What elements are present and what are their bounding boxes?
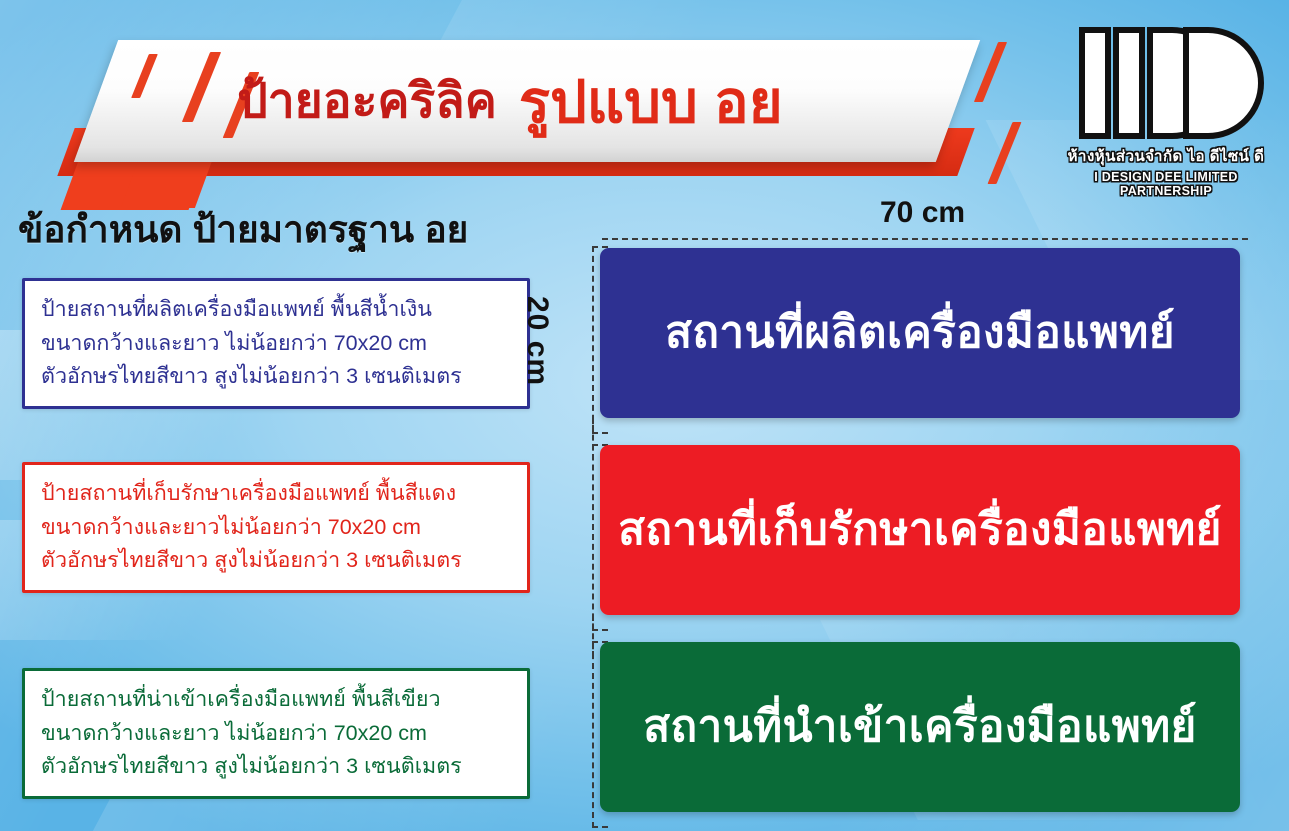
logo-thai-name: ห้างหุ้นส่วนจำกัด ไอ ดีไซน์ ดี — [1061, 144, 1271, 168]
banner-title-secondary: รูปแบบ อย — [519, 55, 783, 148]
idd-letters-icon — [1066, 24, 1266, 142]
dimension-label-width: 70 cm — [880, 196, 965, 230]
spec-line: ป้ายสถานที่เก็บรักษาเครื่องมือแพทย์ พื้น… — [41, 477, 513, 511]
dimension-guide-left — [592, 246, 594, 818]
sign-manufacture: สถานที่ผลิตเครื่องมือแพทย์ — [600, 248, 1240, 418]
spec-line: ป้ายสถานที่ผลิตเครื่องมือแพทย์ พื้นสีน้ำ… — [41, 293, 513, 327]
header-banner: ป้ายอะคริลิค รูปแบบ อย — [0, 18, 1040, 198]
logo-mark-idd — [1061, 24, 1271, 142]
sign-import: สถานที่นำเข้าเครื่องมือแพทย์ — [600, 642, 1240, 812]
spec-line: ขนาดกว้างและยาวไม่น้อยกว่า 70x20 cm — [41, 511, 513, 545]
spec-line: ตัวอักษรไทยสีขาว สูงไม่น้อยกว่า 3 เซนติเ… — [41, 360, 513, 394]
spec-box-storage: ป้ายสถานที่เก็บรักษาเครื่องมือแพทย์ พื้น… — [22, 462, 530, 593]
sign-text: สถานที่นำเข้าเครื่องมือแพทย์ — [643, 705, 1197, 749]
banner-title-primary: ป้ายอะคริลิค — [237, 63, 497, 139]
spec-box-manufacture: ป้ายสถานที่ผลิตเครื่องมือแพทย์ พื้นสีน้ำ… — [22, 278, 530, 409]
poster-canvas: ป้ายอะคริลิค รูปแบบ อย ห้างหุ้นส่วนจำกัด… — [0, 0, 1289, 831]
sign-preview-group: สถานที่ผลิตเครื่องมือแพทย์ สถานที่เก็บรั… — [600, 248, 1248, 818]
sign-text: สถานที่เก็บรักษาเครื่องมือแพทย์ — [618, 508, 1222, 552]
dimension-guide-top — [602, 238, 1248, 240]
sign-text: สถานที่ผลิตเครื่องมือแพทย์ — [665, 311, 1175, 355]
company-logo: ห้างหุ้นส่วนจำกัด ไอ ดีไซน์ ดี I DESIGN … — [1061, 24, 1271, 192]
spec-line: ตัวอักษรไทยสีขาว สูงไม่น้อยกว่า 3 เซนติเ… — [41, 544, 513, 578]
requirements-heading: ข้อกำหนด ป้ายมาตรฐาน อย — [18, 200, 578, 259]
sign-storage: สถานที่เก็บรักษาเครื่องมือแพทย์ — [600, 445, 1240, 615]
banner-title-group: ป้ายอะคริลิค รูปแบบ อย — [0, 40, 1020, 162]
spec-line: ขนาดกว้างและยาว ไม่น้อยกว่า 70x20 cm — [41, 327, 513, 361]
spec-box-import: ป้ายสถานที่น่าเข้าเครื่องมือแพทย์ พื้นสี… — [22, 668, 530, 799]
spec-line: ป้ายสถานที่น่าเข้าเครื่องมือแพทย์ พื้นสี… — [41, 683, 513, 717]
logo-english-name: I DESIGN DEE LIMITED PARTNERSHIP — [1061, 170, 1271, 198]
spec-line: ขนาดกว้างและยาว ไม่น้อยกว่า 70x20 cm — [41, 717, 513, 751]
dimension-label-height: 20 cm — [520, 296, 554, 386]
spec-line: ตัวอักษรไทยสีขาว สูงไม่น้อยกว่า 3 เซนติเ… — [41, 750, 513, 784]
